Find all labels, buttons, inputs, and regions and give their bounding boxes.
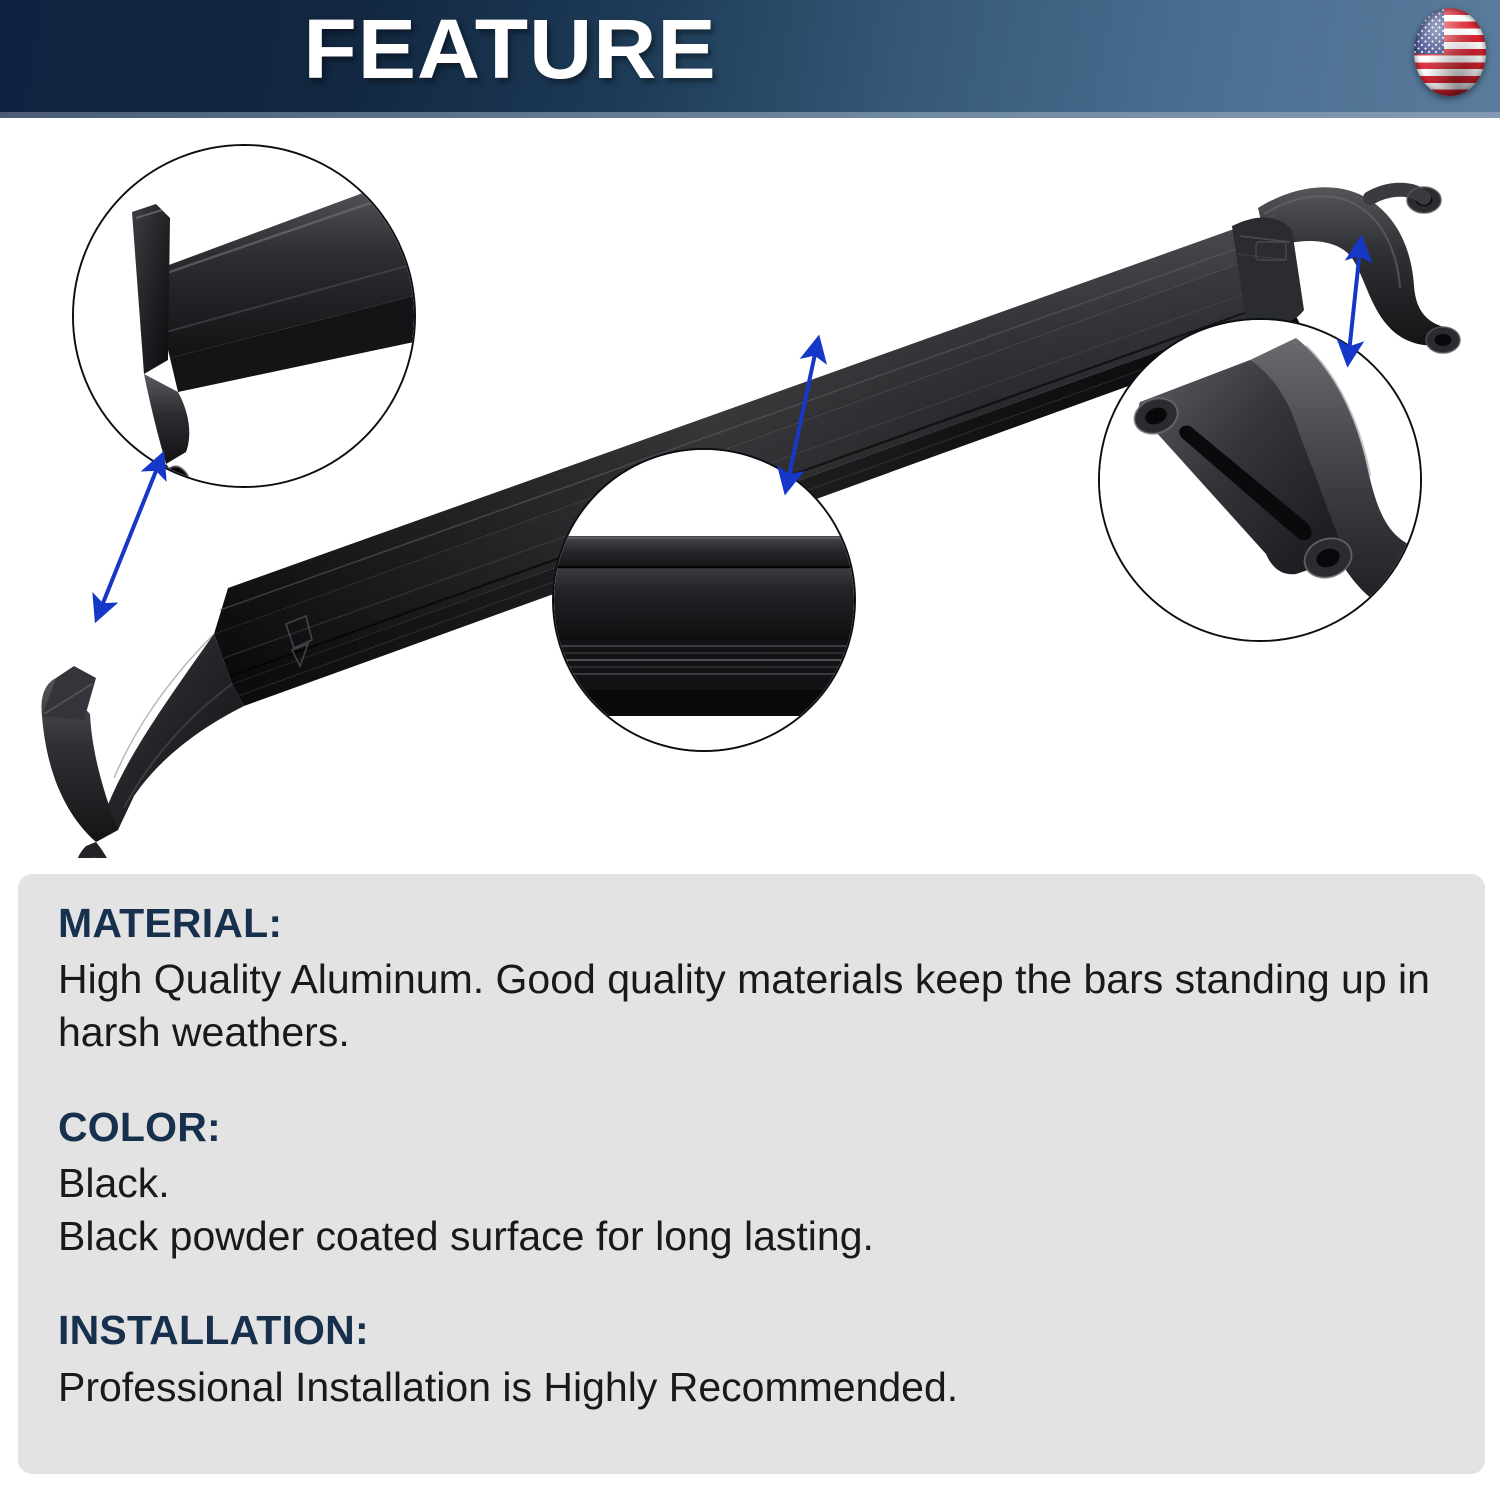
mounting-bracket-zoom-image [1100,320,1420,640]
callout-surface-texture-detail [552,448,856,752]
feature-product-page: FEATURE [0,0,1500,1486]
spec-heading-material: MATERIAL: [58,900,1445,947]
product-photo-stage [0,118,1500,858]
spec-block-installation: INSTALLATION: Professional Installation … [58,1307,1445,1413]
usa-flag-circle-icon [1414,8,1486,96]
spec-body-installation: Professional Installation is Highly Reco… [58,1361,1445,1414]
left-end-cap-hook [42,666,118,858]
left-knee-section [96,634,244,842]
specifications-panel: MATERIAL: High Quality Aluminum. Good qu… [18,874,1485,1474]
spec-heading-installation: INSTALLATION: [58,1307,1445,1354]
page-title: FEATURE [0,5,1040,94]
flag-rim-shadow [1414,8,1486,96]
spec-body-material: High Quality Aluminum. Good quality mate… [58,953,1445,1060]
spec-body-color: Black. Black powder coated surface for l… [58,1157,1445,1264]
spec-block-color: COLOR: Black. Black powder coated surfac… [58,1104,1445,1264]
spec-heading-color: COLOR: [58,1104,1445,1151]
end-cap-hook-zoom-image [74,146,414,486]
spec-block-material: MATERIAL: High Quality Aluminum. Good qu… [58,900,1445,1060]
callout-mounting-bracket-detail [1098,318,1422,642]
callout-end-cap-hook-detail [72,144,416,488]
surface-texture-zoom-image [554,450,854,750]
